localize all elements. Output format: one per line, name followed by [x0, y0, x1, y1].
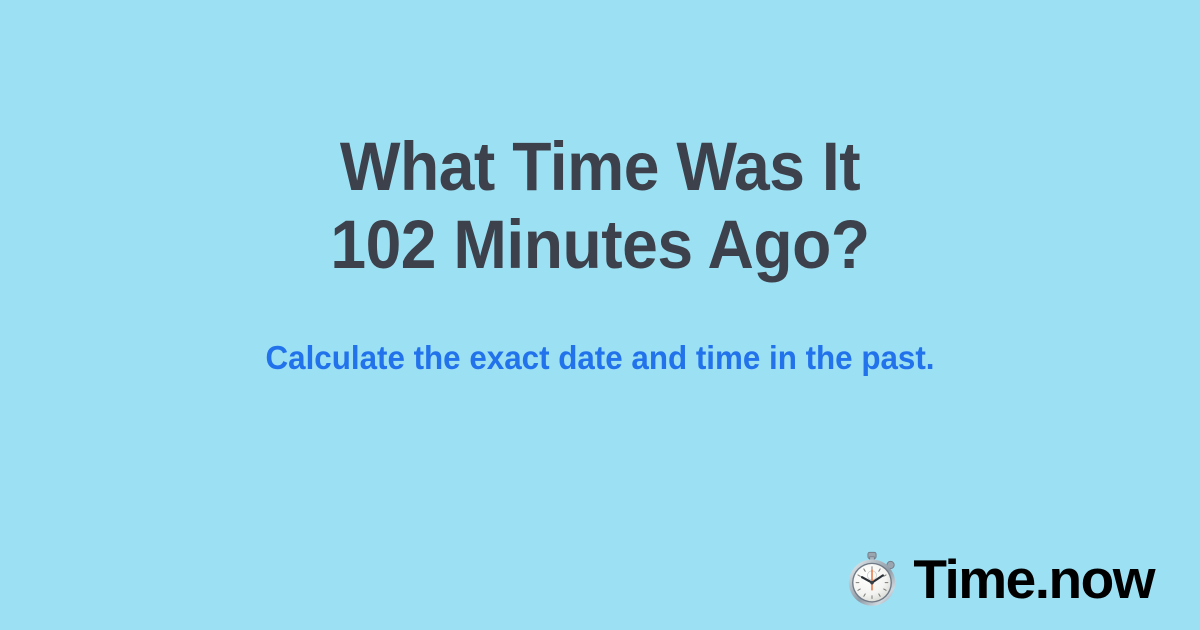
share-card: What Time Was It 102 Minutes Ago? Calcul…	[0, 0, 1200, 630]
brand-name: Time.now	[913, 550, 1154, 608]
headline-line-1: What Time Was It	[42, 128, 1158, 206]
page-title: What Time Was It 102 Minutes Ago?	[0, 128, 1200, 284]
stopwatch-icon	[843, 550, 901, 608]
headline-line-2: 102 Minutes Ago?	[42, 206, 1158, 284]
subtitle: Calculate the exact date and time in the…	[30, 338, 1170, 378]
brand-logo[interactable]: Time.now	[843, 550, 1154, 608]
